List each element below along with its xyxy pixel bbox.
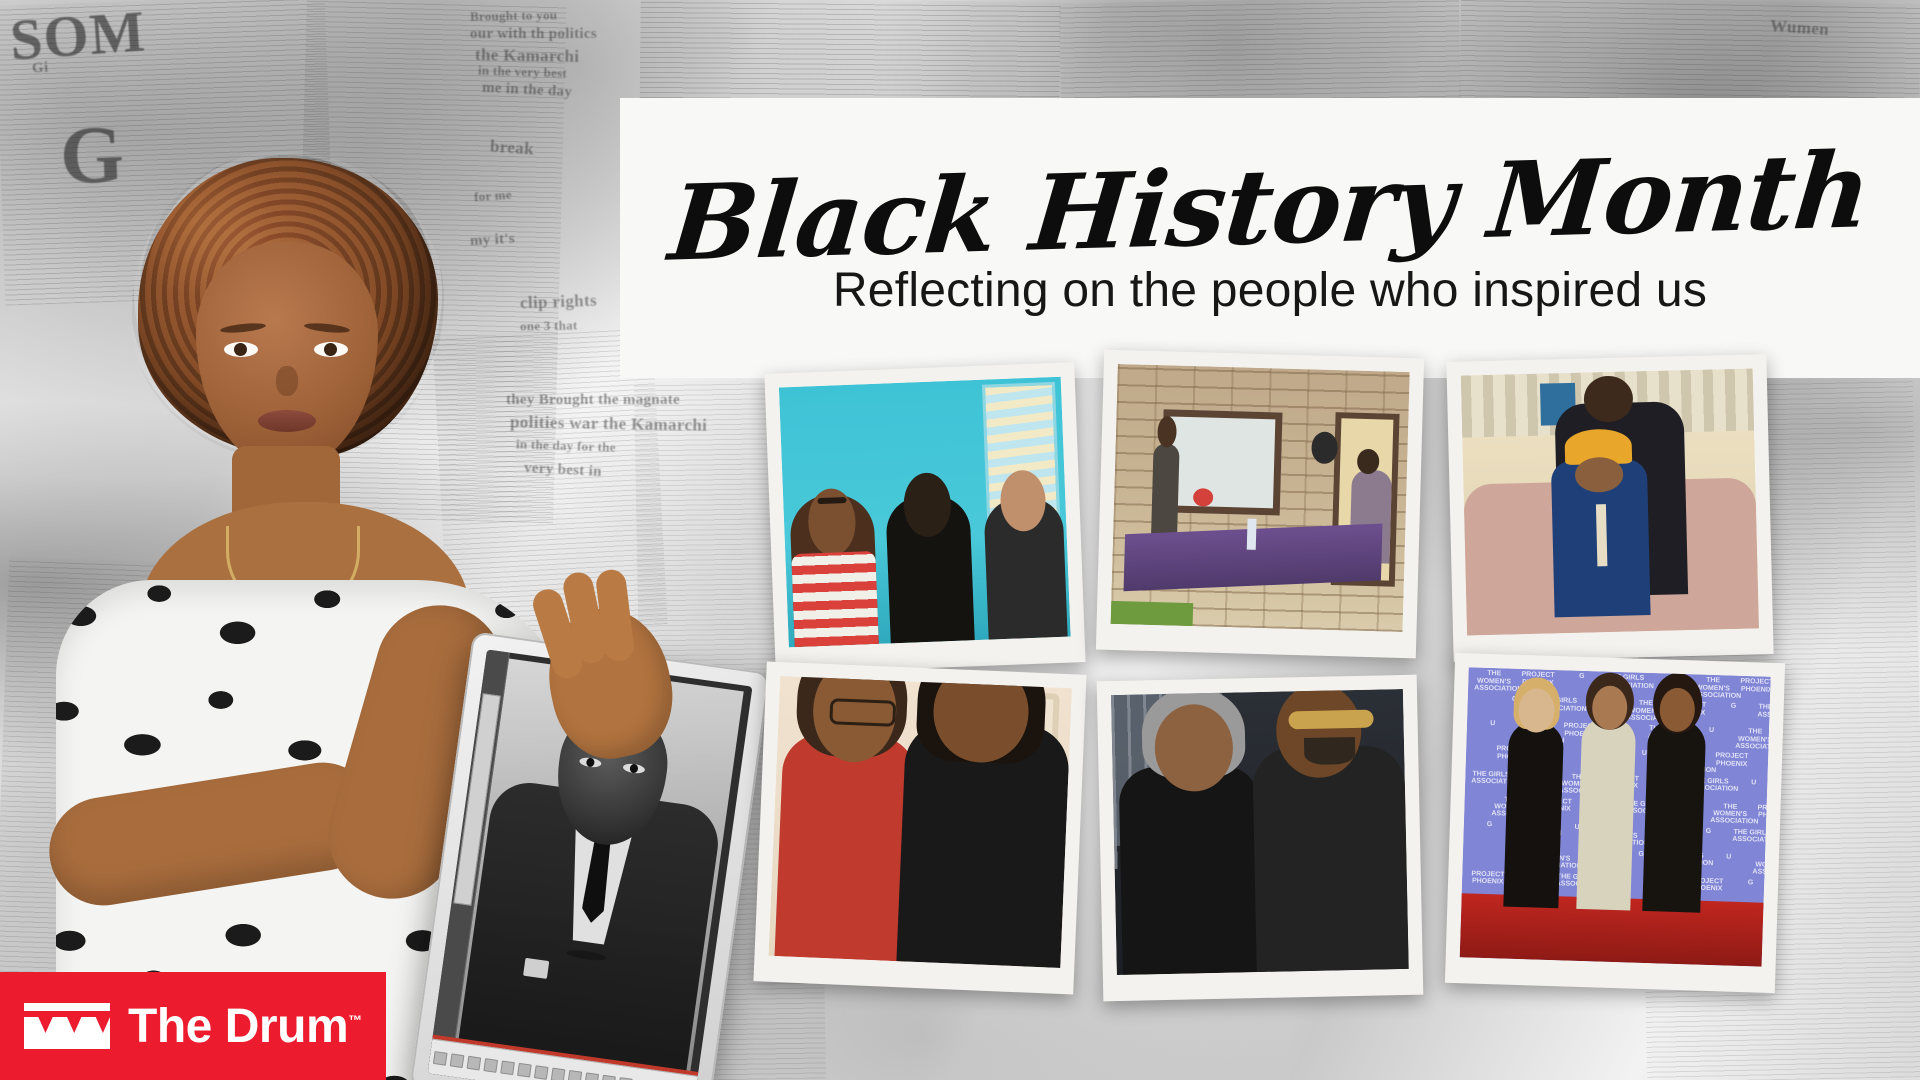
eyebrow-left	[220, 322, 267, 335]
toolbar-icon[interactable]	[618, 1077, 633, 1080]
backdrop-sponsor-logo: G	[1731, 878, 1770, 887]
toolbar-icon[interactable]	[450, 1053, 465, 1068]
backdrop-sponsor-logo: U	[1473, 720, 1512, 729]
backdrop-sponsor-logo: PROJECT PHOENIX	[1468, 870, 1508, 886]
photo-2-image	[1111, 364, 1410, 632]
photo-collage: two men and a woman seated against a tur…	[770, 378, 1920, 1080]
toolbar-icon[interactable]	[500, 1060, 515, 1075]
toolbar-icon[interactable]	[551, 1067, 566, 1080]
backdrop-sponsor-logo: PROJECT PHOENIX	[1737, 678, 1771, 694]
woman-holding-tablet	[20, 150, 660, 1080]
polaroid-photo-5[interactable]: woman and man in sunglasses smiling on a…	[1097, 675, 1424, 1002]
brand-name: The Drum	[128, 1000, 348, 1053]
toolbar-icon[interactable]	[467, 1055, 482, 1070]
photo-6-image: THE WOMEN'S ASSOCIATIONPROJECT PHOENIXGT…	[1460, 667, 1771, 966]
portrait-eye-left	[579, 756, 602, 768]
toolbar-icon[interactable]	[601, 1074, 616, 1080]
drum-crown-icon	[24, 1003, 110, 1049]
backdrop-sponsor-logo: G	[1470, 820, 1509, 829]
eyebrow-right	[304, 322, 351, 335]
toolbar-icon[interactable]	[568, 1069, 583, 1080]
backdrop-sponsor-logo: THE GIRLS ASSOCIATION	[1757, 704, 1770, 720]
backdrop-sponsor-logo: THE WOMEN'S ASSOCIATION	[1752, 854, 1770, 877]
backdrop-sponsor-logo: U	[1709, 853, 1748, 862]
toolbar-icon[interactable]	[534, 1065, 549, 1080]
backdrop-sponsor-logo: G	[1756, 754, 1771, 763]
photo-1-image	[779, 377, 1071, 648]
photo-3-image	[1461, 368, 1759, 635]
page-title: Black History Month	[666, 141, 1875, 273]
toolbar-icon[interactable]	[584, 1072, 599, 1080]
banner-canvas: SOMGiGBrought to youour with th politics…	[0, 0, 1920, 1080]
backdrop-sponsor-logo: THE GIRLS ASSOCIATION	[1471, 770, 1511, 786]
newsprint-scrap	[1059, 0, 1461, 113]
toolbar-icon[interactable]	[517, 1062, 532, 1077]
backdrop-sponsor-logo: U	[1734, 778, 1771, 787]
headline-panel: Black History Month Reflecting on the pe…	[620, 98, 1920, 378]
newsprint-word: Brought to you	[470, 7, 557, 25]
toolbar-icon[interactable]	[483, 1058, 498, 1073]
eye-left	[224, 342, 258, 357]
backdrop-sponsor-logo: G	[1714, 702, 1753, 711]
backdrop-sponsor-logo: THE WOMEN'S ASSOCIATION	[1735, 728, 1771, 751]
photo-5-image	[1111, 689, 1409, 975]
photo-4-image	[769, 676, 1072, 968]
polaroid-photo-2[interactable]: man and woman playing table tennis in a …	[1096, 350, 1424, 659]
polaroid-photo-4[interactable]: two women smiling together indoors	[753, 661, 1086, 994]
toolbar-icon[interactable]	[433, 1051, 448, 1066]
newsprint-word: our with th politics	[470, 26, 597, 43]
nose	[276, 366, 298, 396]
newsprint-word: in the very best	[478, 62, 568, 81]
the-drum-logo[interactable]: The Drum™	[0, 972, 386, 1080]
lips	[258, 410, 316, 432]
backdrop-sponsor-logo: PROJECT PHOENIX	[1754, 804, 1771, 820]
trademark-symbol: ™	[348, 1012, 362, 1028]
portrait-pocket-square	[523, 958, 549, 979]
eye-right	[314, 342, 348, 357]
portrait-eye-right	[622, 762, 645, 774]
backdrop-sponsor-logo: THE WOMEN'S ASSOCIATION	[1474, 670, 1514, 693]
backdrop-sponsor-logo: THE GIRLS ASSOCIATION	[1732, 828, 1770, 844]
newsprint-word: Wumen	[1769, 16, 1829, 40]
the-drum-wordmark: The Drum™	[128, 1003, 362, 1051]
polaroid-photo-6[interactable]: THE WOMEN'S ASSOCIATIONPROJECT PHOENIXGT…	[1445, 653, 1785, 993]
polaroid-photo-1[interactable]: two men and a woman seated against a tur…	[764, 362, 1085, 674]
newsprint-word: Gi	[32, 60, 49, 78]
polaroid-photo-3[interactable]: father holding a young child wearing a y…	[1446, 354, 1773, 662]
backdrop-sponsor-logo: PROJECT PHOENIX	[1712, 753, 1752, 769]
newsprint-word: SOM	[8, 0, 148, 74]
backdrop-sponsor-logo: THE WOMEN'S ASSOCIATION	[1710, 803, 1750, 826]
